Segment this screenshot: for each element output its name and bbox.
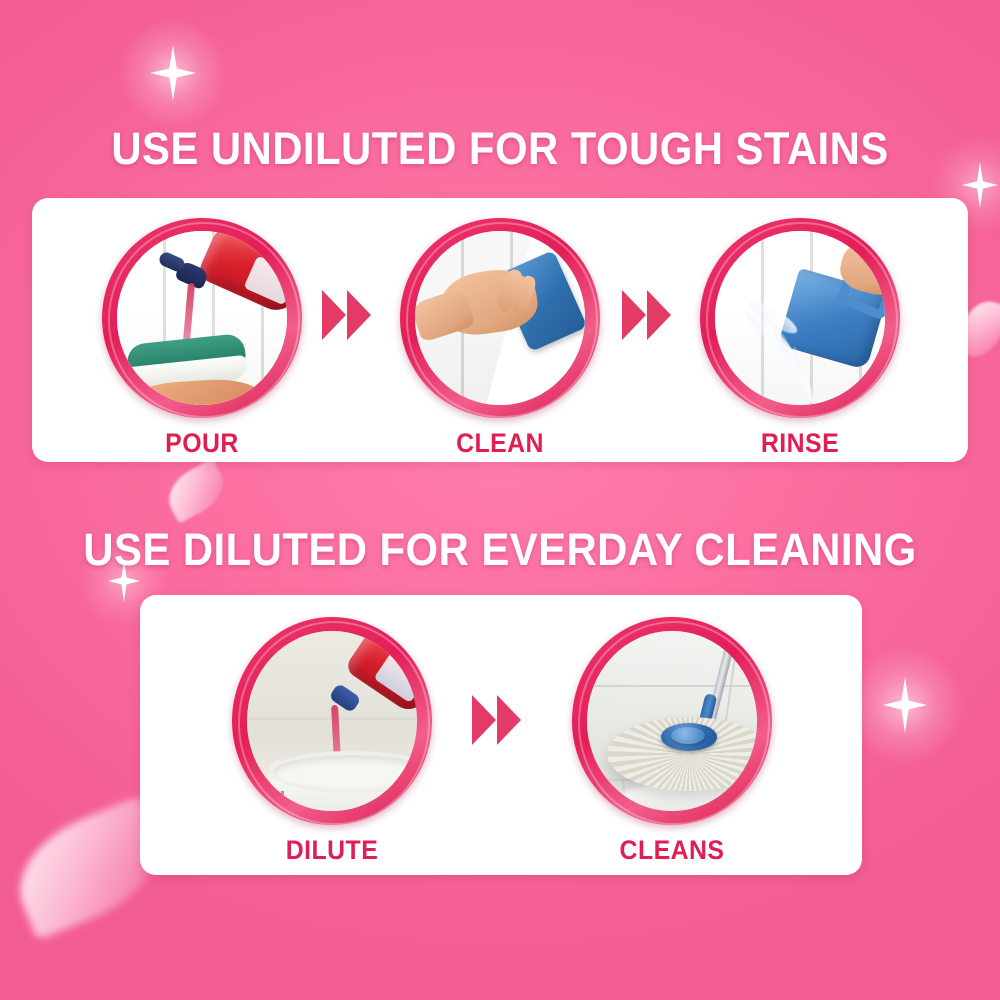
step-cleans-image — [572, 617, 772, 825]
step-clean-label: CLEAN — [408, 428, 592, 459]
step-clean[interactable]: CLEAN — [400, 218, 600, 459]
double-chevron-right-icon — [472, 695, 521, 745]
heading-diluted: USE DILUTED FOR EVERDAY CLEANING — [35, 524, 965, 576]
double-chevron-right-icon — [622, 290, 671, 340]
step-rinse[interactable]: RINSE — [700, 218, 900, 459]
heading-undiluted: USE UNDILUTED FOR TOUGH STAINS — [35, 123, 965, 175]
flower-petal-mid-left — [160, 458, 233, 523]
panel-diluted-steps: DILUTE — [140, 595, 862, 875]
step-rinse-label: RINSE — [708, 428, 892, 459]
step-cleans-label: CLEANS — [580, 835, 764, 866]
sparkle-icon-top-left — [118, 18, 228, 128]
infographic-canvas: USE UNDILUTED FOR TOUGH STAINS — [0, 0, 1000, 1000]
step-cleans[interactable]: CLEANS — [572, 617, 772, 866]
step-pour[interactable]: POUR — [102, 218, 302, 459]
step-rinse-image — [700, 218, 900, 418]
step-pour-label: POUR — [110, 428, 294, 459]
panel-undiluted-steps: POUR — [32, 198, 968, 462]
step-dilute-image — [232, 617, 432, 825]
step-pour-image — [102, 218, 302, 418]
step-clean-image — [400, 218, 600, 418]
step-dilute[interactable]: DILUTE — [232, 617, 432, 866]
step-dilute-label: DILUTE — [240, 835, 424, 866]
sparkle-icon-bottom-right — [845, 645, 965, 765]
double-chevron-right-icon — [322, 290, 371, 340]
